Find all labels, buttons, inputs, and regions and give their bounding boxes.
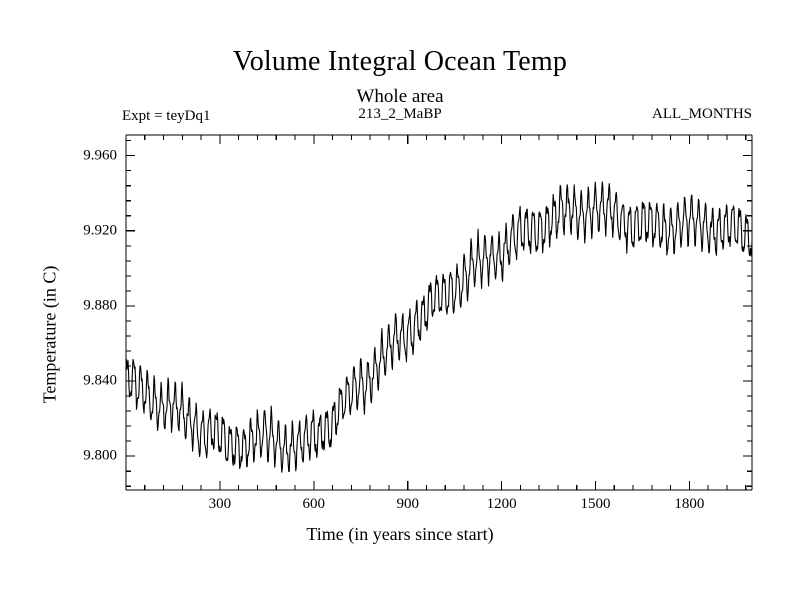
chart-root: Volume Integral Ocean Temp Whole area Ex… — [0, 0, 800, 600]
temperature-series-line — [126, 182, 752, 472]
axis-frame — [126, 135, 752, 490]
plot-area — [0, 0, 800, 600]
data-series-layer — [126, 182, 752, 472]
